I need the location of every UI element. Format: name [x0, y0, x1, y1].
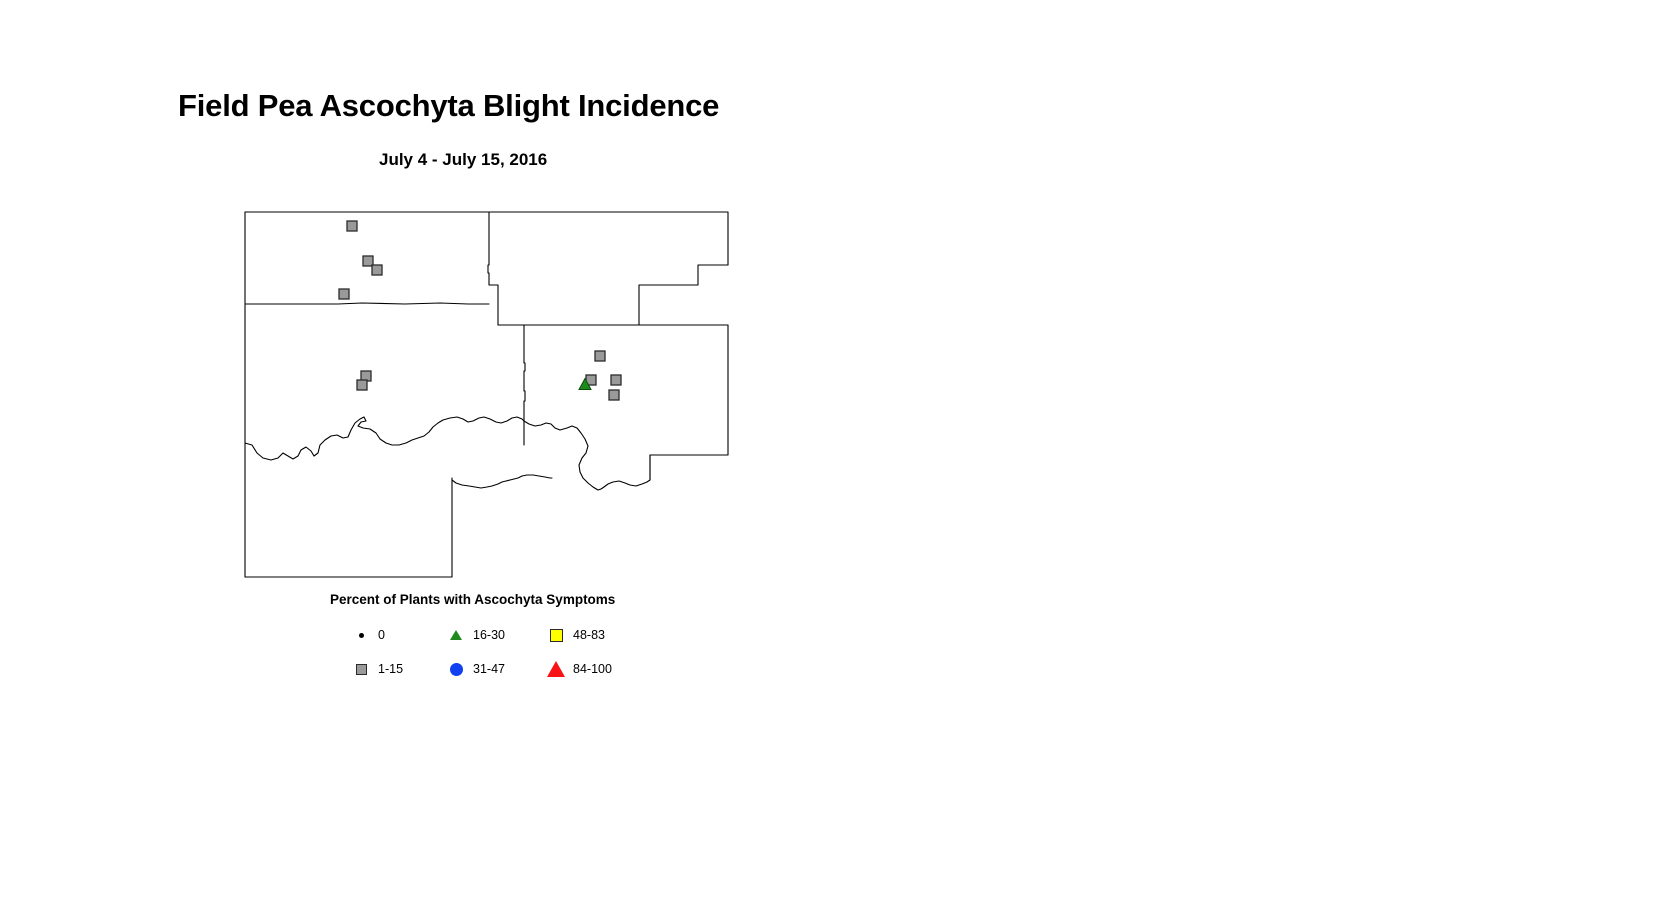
map-marker-layer	[339, 221, 621, 400]
legend-row-top: 0 16-30 48-83	[245, 618, 765, 652]
boundary-north-edge-east	[489, 212, 728, 265]
legend-grid: 0 16-30 48-83 1-15 31-47	[245, 618, 765, 686]
page-subtitle: July 4 - July 15, 2016	[379, 150, 547, 170]
legend-row-bottom: 1-15 31-47 84-100	[245, 652, 765, 686]
boundary-central-vertical-south	[524, 325, 525, 445]
legend-item-0[interactable]: 0	[350, 618, 385, 652]
legend-title: Percent of Plants with Ascochyta Symptom…	[330, 592, 615, 607]
map-figure	[230, 195, 750, 595]
legend-label-84-100: 84-100	[573, 662, 612, 676]
map-marker[interactable]	[372, 265, 382, 275]
legend-label-0: 0	[378, 628, 385, 642]
legend-item-48-83[interactable]: 48-83	[545, 618, 605, 652]
map-legend: Percent of Plants with Ascochyta Symptom…	[245, 590, 765, 685]
boundary-nw-internal-horizontal	[245, 303, 489, 304]
map-marker[interactable]	[339, 289, 349, 299]
legend-label-48-83: 48-83	[573, 628, 605, 642]
page-title: Field Pea Ascochyta Blight Incidence	[178, 88, 719, 124]
legend-item-16-30[interactable]: 16-30	[445, 618, 505, 652]
boundary-ne-step-east	[639, 265, 728, 325]
legend-item-31-47[interactable]: 31-47	[445, 652, 505, 686]
map-page: Field Pea Ascochyta Blight Incidence Jul…	[0, 0, 1673, 900]
boundary-south-meander-to-corner	[452, 475, 552, 488]
boundary-river-line	[245, 417, 728, 490]
legend-triangle-green-icon	[445, 630, 467, 640]
legend-circle-blue-icon	[445, 663, 467, 676]
map-marker[interactable]	[347, 221, 357, 231]
legend-square-yellow-icon	[545, 629, 567, 642]
boundary-north-central-vertical	[488, 212, 524, 325]
map-marker[interactable]	[357, 380, 367, 390]
legend-item-84-100[interactable]: 84-100	[545, 652, 612, 686]
map-marker[interactable]	[595, 351, 605, 361]
legend-item-1-15[interactable]: 1-15	[350, 652, 403, 686]
map-svg[interactable]	[230, 195, 750, 595]
legend-dot-icon	[350, 633, 372, 638]
legend-label-16-30: 16-30	[473, 628, 505, 642]
map-boundaries	[245, 212, 728, 577]
map-marker[interactable]	[611, 375, 621, 385]
legend-triangle-red-icon	[545, 661, 567, 677]
legend-square-gray-icon	[350, 664, 372, 675]
legend-label-1-15: 1-15	[378, 662, 403, 676]
map-marker[interactable]	[609, 390, 619, 400]
legend-label-31-47: 31-47	[473, 662, 505, 676]
